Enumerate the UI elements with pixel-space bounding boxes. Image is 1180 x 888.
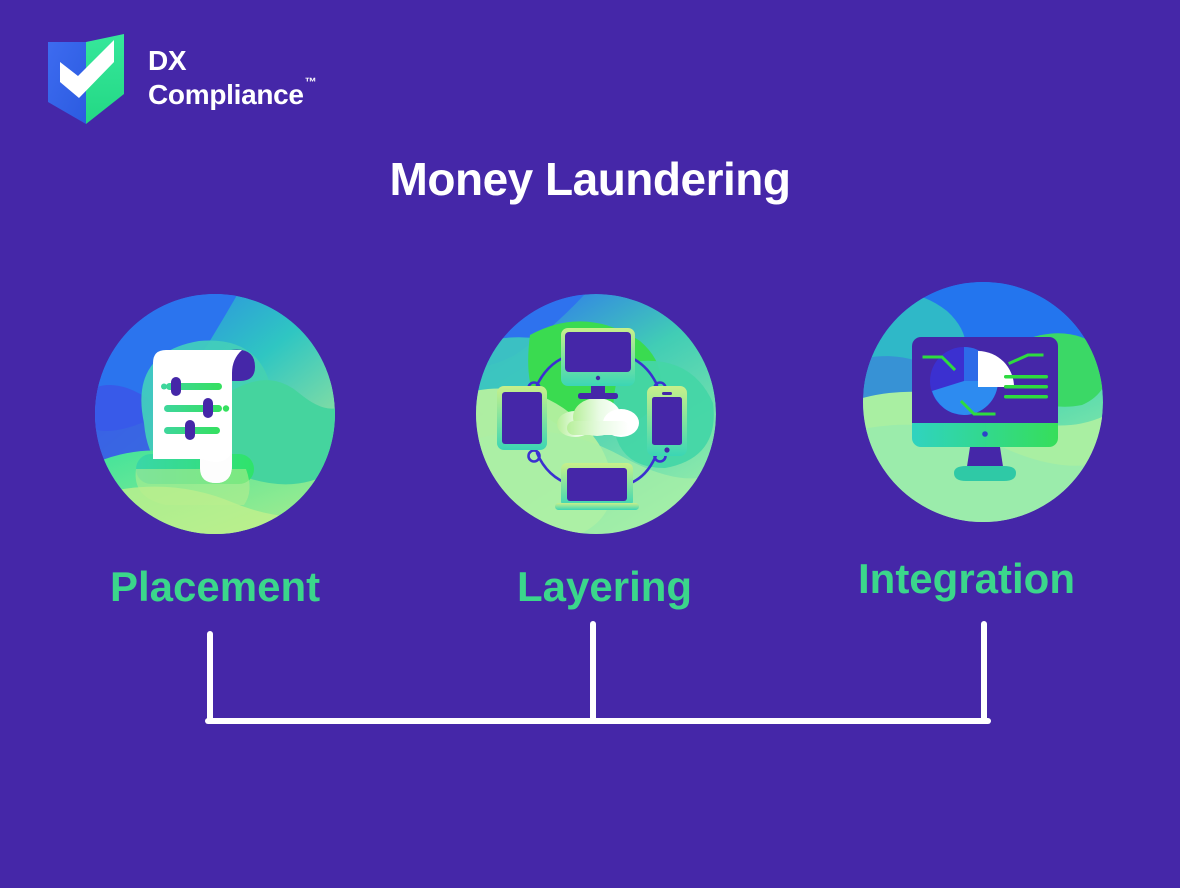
brand-line-dx: DX xyxy=(148,47,315,75)
stage-label-integration: Integration xyxy=(858,555,1075,603)
stage-layering-illustration xyxy=(475,293,717,535)
stage-placement-illustration xyxy=(94,293,336,535)
dx-compliance-shield-logo-icon xyxy=(38,28,134,128)
trademark-symbol: ™ xyxy=(305,75,317,89)
brand-wordmark: DX Compliance™ xyxy=(148,47,315,109)
brand-compliance-text: Compliance xyxy=(148,79,304,110)
stage-grouping-bracket xyxy=(0,600,1180,750)
page-title: Money Laundering xyxy=(0,152,1180,206)
brand-line-compliance: Compliance™ xyxy=(148,81,315,109)
stage-integration-illustration xyxy=(862,281,1104,523)
slide-canvas: DX Compliance™ Money Laundering xyxy=(0,0,1180,888)
brand-lockup: DX Compliance™ xyxy=(38,28,315,128)
